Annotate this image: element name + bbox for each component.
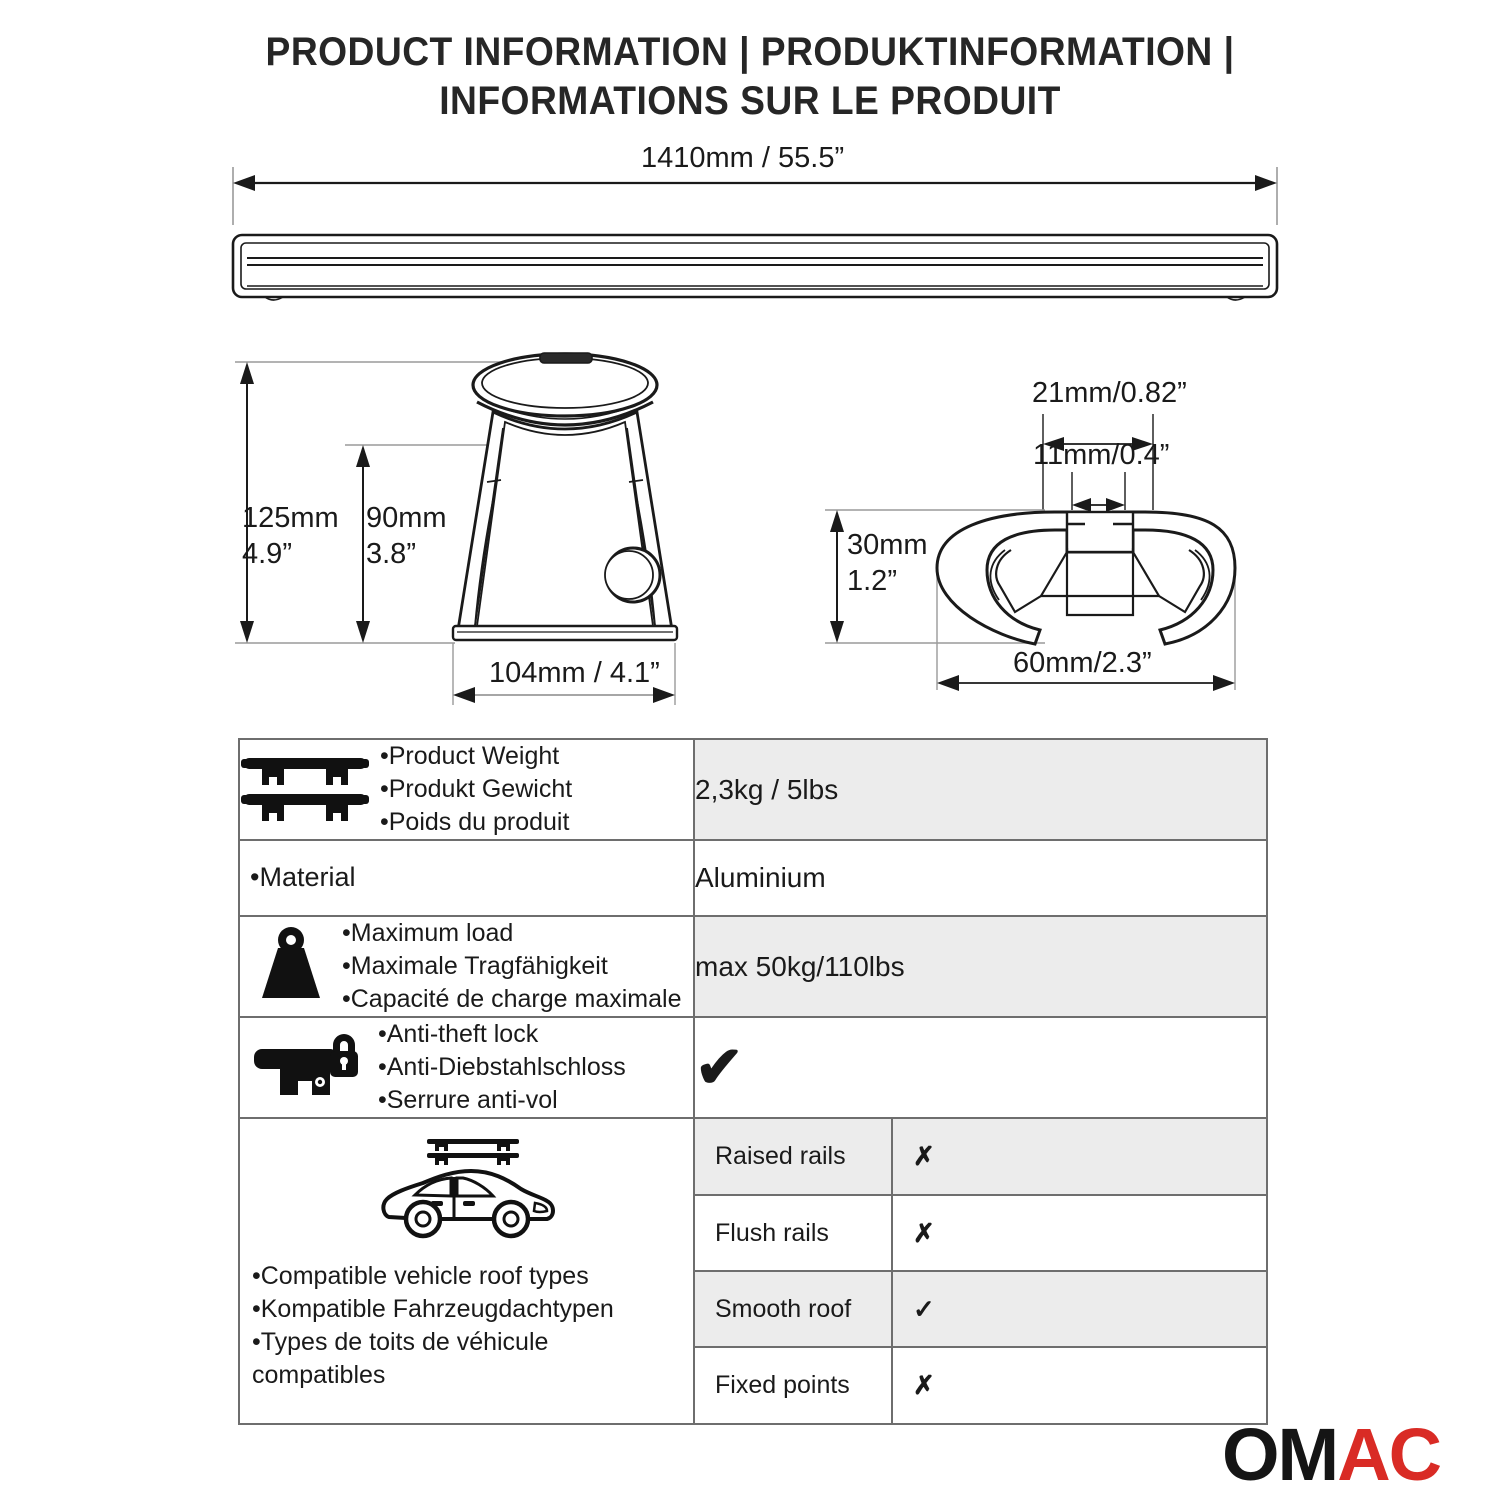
lock-icon [250,1025,360,1110]
roof-type-row: Smooth roof ✓ [695,1271,1266,1347]
roof-type-value-cross: ✗ [892,1119,1266,1195]
omac-logo: OMAC [1222,1418,1440,1492]
product-weight-value: 2,3kg / 5lbs [694,739,1267,840]
label-fr: •Poids du produit [380,806,572,839]
roof-type-row: Flush rails ✗ [695,1195,1266,1271]
table-row: •Material Aluminium [239,840,1267,916]
max-load-label-cell: •Maximum load •Maximale Tragfähigkeit •C… [239,916,694,1017]
title-line-2: INFORMATIONS SUR LE PRODUIT [53,77,1448,126]
label-en: •Anti-theft lock [378,1018,626,1051]
product-weight-label-cell: •Product Weight •Produkt Gewicht •Poids … [239,739,694,840]
specification-table: •Product Weight •Produkt Gewicht •Poids … [238,738,1268,1425]
logo-text-om: OM [1222,1413,1337,1496]
label-fr-cont: compatibles [252,1359,614,1392]
anti-theft-labels: •Anti-theft lock •Anti-Diebstahlschloss … [378,1018,626,1117]
anti-theft-label-cell: •Anti-theft lock •Anti-Diebstahlschloss … [239,1017,694,1118]
page-title: PRODUCT INFORMATION | PRODUKTINFORMATION… [0,28,1500,126]
roof-type-row: Fixed points ✗ [695,1347,1266,1423]
anti-theft-value: ✔ [694,1017,1267,1118]
material-value: Aluminium [694,840,1267,916]
weight-icon [254,926,328,1007]
car-with-rack-icon [375,1133,561,1246]
label-de: •Produkt Gewicht [380,773,572,806]
roof-type-name: Fixed points [695,1347,892,1423]
label-fr: •Capacité de charge maximale [342,983,681,1016]
roof-type-name: Flush rails [695,1195,892,1271]
label-de: •Kompatible Fahrzeugdachtypen [252,1293,614,1326]
label-en: •Material [250,860,355,896]
compatible-roof-types-labels: •Compatible vehicle roof types •Kompatib… [252,1260,614,1392]
roof-bars-icon [240,750,370,829]
label-fr: •Serrure anti-vol [378,1084,626,1117]
material-labels: •Material [250,860,355,896]
product-information-sheet: PRODUCT INFORMATION | PRODUKTINFORMATION… [0,0,1500,1500]
roof-type-name: Smooth roof [695,1271,892,1347]
label-fr: •Types de toits de véhicule [252,1326,614,1359]
table-row: •Anti-theft lock •Anti-Diebstahlschloss … [239,1017,1267,1118]
bar-cross-section-diagram [815,400,1295,700]
compatible-roof-types-label-cell: •Compatible vehicle roof types •Kompatib… [239,1118,694,1424]
max-load-labels: •Maximum load •Maximale Tragfähigkeit •C… [342,917,681,1016]
label-de: •Anti-Diebstahlschloss [378,1051,626,1084]
label-en: •Compatible vehicle roof types [252,1260,614,1293]
roof-type-value-check: ✓ [892,1271,1266,1347]
roof-type-value-cross: ✗ [892,1195,1266,1271]
table-row: •Maximum load •Maximale Tragfähigkeit •C… [239,916,1267,1017]
roof-type-name: Raised rails [695,1119,892,1195]
max-load-value: max 50kg/110lbs [694,916,1267,1017]
label-en: •Product Weight [380,740,572,773]
checkmark-icon: ✔ [695,1035,744,1100]
product-weight-labels: •Product Weight •Produkt Gewicht •Poids … [380,740,572,839]
material-label-cell: •Material [239,840,694,916]
table-row: •Compatible vehicle roof types •Kompatib… [239,1118,1267,1424]
roof-types-table: Raised rails ✗ Flush rails ✗ Smooth roof… [695,1119,1266,1423]
roof-bar-length-diagram [225,165,1285,310]
label-en: •Maximum load [342,917,681,950]
roof-type-value-cross: ✗ [892,1347,1266,1423]
roof-types-subtable-cell: Raised rails ✗ Flush rails ✗ Smooth roof… [694,1118,1267,1424]
title-line-1: PRODUCT INFORMATION | PRODUKTINFORMATION… [53,28,1448,77]
logo-text-ac: AC [1337,1413,1440,1496]
label-de: •Maximale Tragfähigkeit [342,950,681,983]
tower-side-view-diagram [225,350,725,710]
table-row: •Product Weight •Produkt Gewicht •Poids … [239,739,1267,840]
roof-type-row: Raised rails ✗ [695,1119,1266,1195]
